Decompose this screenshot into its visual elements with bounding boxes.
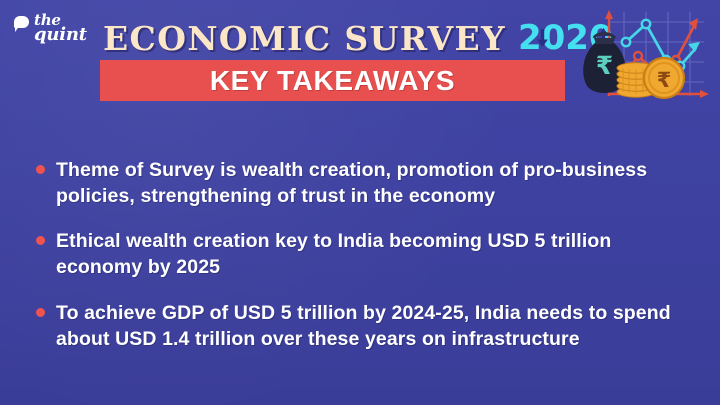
title-text: ECONOMIC SURVEY: [103, 19, 506, 58]
logo-wordmark: the quint: [34, 13, 87, 43]
money-bag-coins-growth-chart-illustration: ₹ ₹: [576, 4, 716, 112]
list-item: To achieve GDP of USD 5 trillion by 2024…: [36, 300, 692, 352]
bullet-text: Ethical wealth creation key to India bec…: [56, 228, 692, 280]
rupee-coin-icon: ₹: [644, 58, 684, 98]
bullet-dot-icon: [36, 236, 45, 245]
down-arrow-icon: [535, 27, 550, 49]
svg-text:₹: ₹: [596, 51, 613, 80]
key-takeaways-list: Theme of Survey is wealth creation, prom…: [36, 157, 692, 352]
list-item: Theme of Survey is wealth creation, prom…: [36, 157, 692, 209]
bullet-dot-icon: [36, 308, 45, 317]
svg-text:₹: ₹: [657, 68, 672, 92]
bullet-dot-icon: [36, 165, 45, 174]
bullet-text: To achieve GDP of USD 5 trillion by 2024…: [56, 300, 692, 352]
logo-word-quint: quint: [34, 27, 87, 44]
the-quint-logo[interactable]: the quint: [14, 13, 104, 47]
speech-bubble-icon: [14, 16, 30, 31]
bullet-text: Theme of Survey is wealth creation, prom…: [56, 157, 692, 209]
list-item: Ethical wealth creation key to India bec…: [36, 228, 692, 280]
key-takeaways-banner: KEY TAKEAWAYS: [100, 60, 565, 101]
page-title: ECONOMIC SURVEY 2020: [103, 17, 613, 59]
slide-canvas: the quint ECONOMIC SURVEY 2020 KEY TAKEA…: [0, 0, 720, 405]
banner-text: KEY TAKEAWAYS: [210, 65, 455, 97]
